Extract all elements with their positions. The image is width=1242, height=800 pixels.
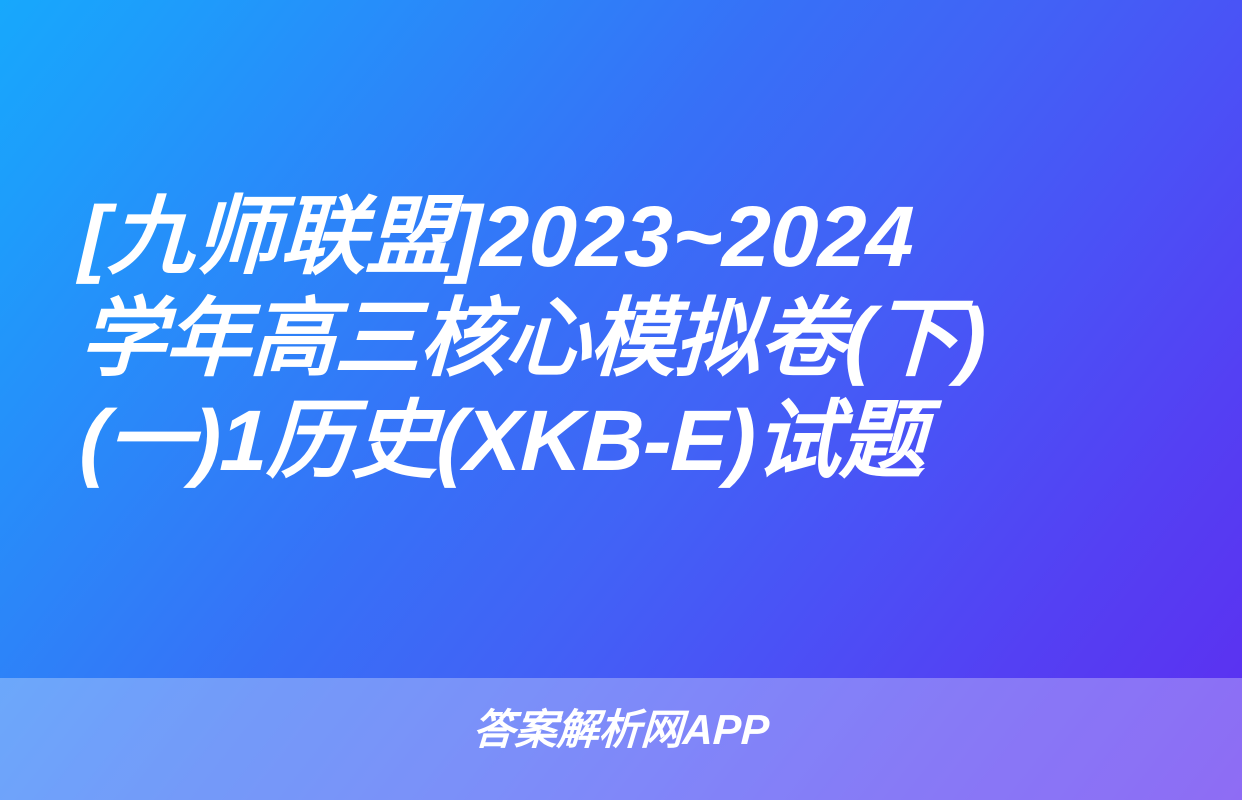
app-watermark: 答案解析网APP	[0, 706, 1242, 754]
title-line-2: 学年高三核心模拟卷(下)	[78, 288, 1168, 390]
exam-cover-image: [九师联盟]2023~2024 学年高三核心模拟卷(下) (一)1历史(XKB-…	[0, 0, 1242, 800]
title-line-3: (一)1历史(XKB-E)试题	[78, 390, 1168, 492]
page-title: [九师联盟]2023~2024 学年高三核心模拟卷(下) (一)1历史(XKB-…	[0, 186, 1242, 492]
title-line-1: [九师联盟]2023~2024	[78, 186, 1168, 288]
